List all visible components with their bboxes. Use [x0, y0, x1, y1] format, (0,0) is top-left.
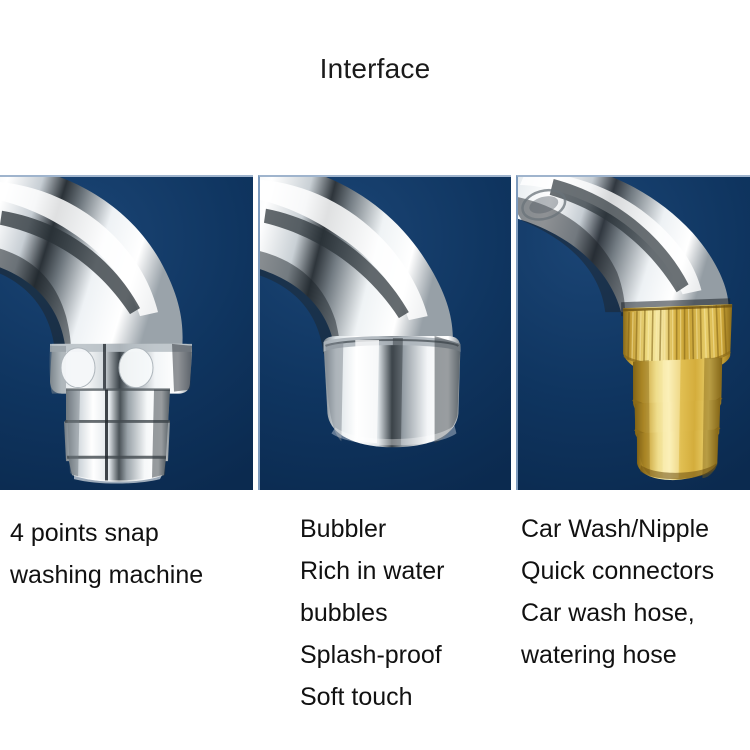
caption-snap: 4 points snap washing machine — [10, 512, 203, 596]
faucet-brass-nipple-photo — [518, 177, 750, 490]
product-panel-snap — [0, 175, 253, 490]
caption-line: Soft touch — [300, 676, 445, 718]
caption-line: Car wash hose, — [521, 592, 714, 634]
product-image-band — [0, 175, 750, 490]
caption-line: Quick connectors — [521, 550, 714, 592]
caption-bubbler: Bubbler Rich in water bubbles Splash-pro… — [300, 508, 445, 718]
caption-line: washing machine — [10, 554, 203, 596]
product-panel-quick-connector — [516, 175, 750, 490]
caption-line: Splash-proof — [300, 634, 445, 676]
caption-line: 4 points snap — [10, 512, 203, 554]
caption-line: watering hose — [521, 634, 714, 676]
caption-line: Rich in water — [300, 550, 445, 592]
caption-line: bubbles — [300, 592, 445, 634]
faucet-bubbler-photo — [260, 177, 511, 490]
faucet-snap-photo — [0, 177, 253, 490]
page-title: Interface — [0, 52, 750, 86]
caption-area: 4 points snap washing machine Bubbler Ri… — [0, 490, 750, 750]
caption-quick-connector: Car Wash/Nipple Quick connectors Car was… — [521, 508, 714, 676]
caption-line: Car Wash/Nipple — [521, 508, 714, 550]
caption-line: Bubbler — [300, 508, 445, 550]
product-panel-bubbler — [258, 175, 511, 490]
